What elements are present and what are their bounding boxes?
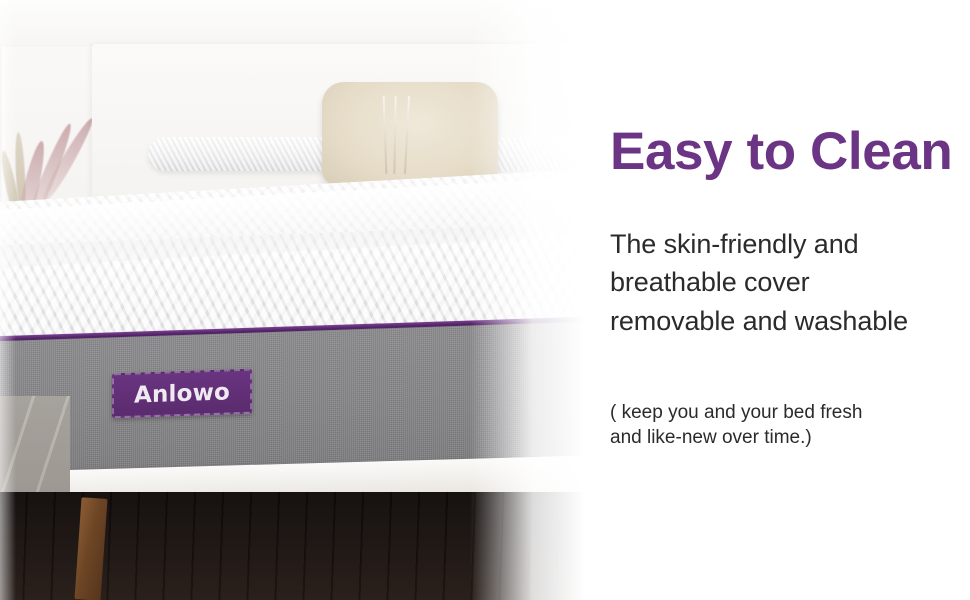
brand-logo-patch: Anlowo: [112, 369, 252, 419]
pillow-crease: [393, 96, 396, 174]
text-panel: Easy to Clean The skin-friendly and brea…: [604, 0, 970, 600]
pillow: [322, 82, 498, 186]
headline: Easy to Clean: [610, 124, 970, 179]
bedroom-photo: Anlowo: [0, 0, 600, 600]
body-copy: The skin-friendly and breathable cover r…: [610, 225, 940, 340]
product-banner: Anlowo Easy to Clean The skin-friendly a…: [0, 0, 970, 600]
pillow-crease: [383, 96, 388, 174]
brand-name: Anlowo: [134, 379, 230, 408]
caption-text: ( keep you and your bed fresh and like-n…: [610, 400, 950, 450]
pillow-crease: [404, 96, 410, 174]
